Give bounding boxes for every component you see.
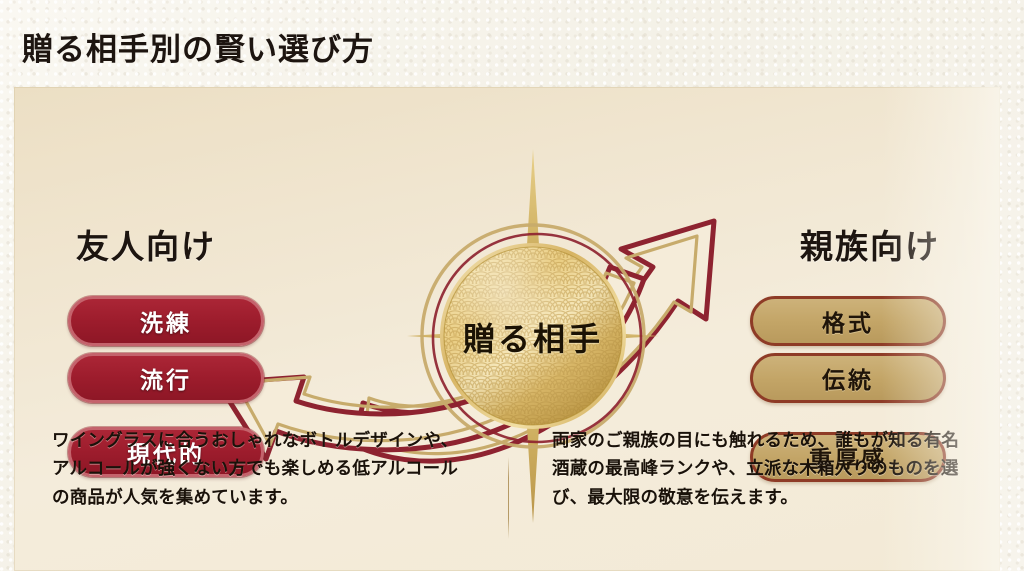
- column-heading-friends: 友人向け: [76, 220, 216, 268]
- infographic-root: 贈る相手別の賢い選び方: [0, 0, 1024, 571]
- body-text-friends: ワイングラスに合うおしゃれなボトルデザインや、アルコールが強くない方でも楽しめる…: [52, 426, 472, 511]
- page-title: 贈る相手別の賢い選び方: [22, 24, 374, 69]
- body-text-relatives: 両家のご親族の目にも触れるため、誰もが知る有名酒蔵の最高峰ランクや、立派な木箱入…: [552, 426, 972, 511]
- tag-pill-relatives-2[interactable]: 伝統: [750, 353, 946, 403]
- column-divider: [508, 457, 509, 539]
- content-panel: 贈る相手 友人向け 洗練 流行 現代的 親族向け 格式 伝統 重厚感 ワイングラ…: [14, 87, 1000, 571]
- column-heading-relatives: 親族向け: [800, 220, 940, 268]
- tag-pill-friends-1[interactable]: 洗練: [68, 296, 264, 346]
- seigaiha-pattern: [438, 241, 630, 433]
- tag-pill-relatives-1[interactable]: 格式: [750, 296, 946, 346]
- tag-pill-friends-2[interactable]: 流行: [68, 353, 264, 403]
